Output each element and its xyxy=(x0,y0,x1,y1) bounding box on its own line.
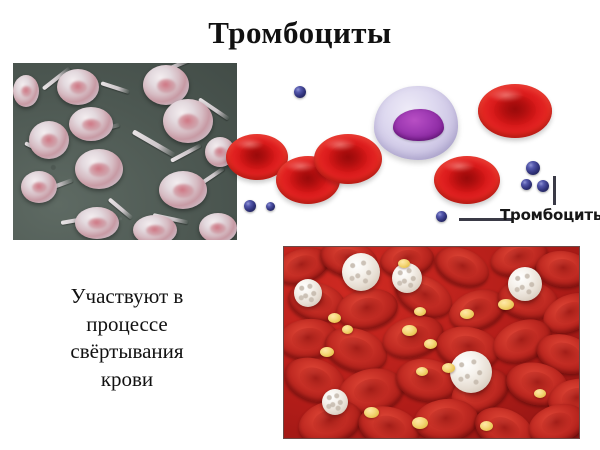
platelet xyxy=(402,325,417,336)
caption-line: процессе xyxy=(12,311,242,339)
platelet xyxy=(436,211,447,222)
page-title: Тромбоциты xyxy=(0,16,600,50)
leukocyte xyxy=(450,351,492,393)
platelet xyxy=(294,86,306,98)
platelet xyxy=(498,299,514,310)
platelet xyxy=(537,180,549,192)
platelet-cell xyxy=(57,69,99,105)
platelet xyxy=(342,325,353,334)
platelet xyxy=(364,407,379,418)
platelet-cell xyxy=(159,171,207,209)
erythrocyte xyxy=(314,134,382,184)
erythrocyte xyxy=(478,84,552,138)
electron-micrograph-of-platelets xyxy=(13,63,237,240)
platelet-cell xyxy=(75,149,123,189)
platelet-cell xyxy=(75,207,119,239)
platelet xyxy=(526,161,540,175)
platelet-cell xyxy=(199,213,237,240)
platelet xyxy=(244,200,256,212)
platelet-cell xyxy=(69,107,113,141)
platelet xyxy=(424,339,437,349)
caption-text: Участвуют в процессе свёртывания крови xyxy=(12,283,242,394)
platelet-cell xyxy=(133,215,177,240)
leukocyte xyxy=(508,267,542,301)
platelet-cell xyxy=(29,121,69,159)
platelet-cell xyxy=(163,99,213,143)
3d-blood-cells-render xyxy=(283,246,580,439)
leukocyte xyxy=(374,86,458,160)
platelet xyxy=(521,179,532,190)
platelet xyxy=(320,347,334,357)
platelet xyxy=(412,417,428,429)
leukocyte xyxy=(342,253,380,291)
leukocyte xyxy=(392,263,422,293)
caption-line: крови xyxy=(12,366,242,394)
diagram-label-platelets: Тромбоциты xyxy=(500,206,600,224)
platelet xyxy=(328,313,341,323)
platelet xyxy=(414,307,426,316)
caption-line: Участвуют в xyxy=(12,283,242,311)
platelet-cell xyxy=(13,75,39,107)
platelet-cell xyxy=(21,171,57,203)
caption-line: свёртывания xyxy=(12,338,242,366)
platelet xyxy=(416,367,428,376)
platelet xyxy=(460,309,474,319)
platelet xyxy=(266,202,275,211)
leader-line-vertical xyxy=(553,176,556,205)
leukocyte xyxy=(322,389,348,415)
platelet xyxy=(442,363,455,373)
platelet xyxy=(534,389,546,398)
platelet xyxy=(398,259,410,268)
platelet xyxy=(480,421,493,431)
erythrocyte xyxy=(434,156,500,204)
leukocyte xyxy=(294,279,322,307)
leukocyte-nucleus xyxy=(393,109,443,142)
